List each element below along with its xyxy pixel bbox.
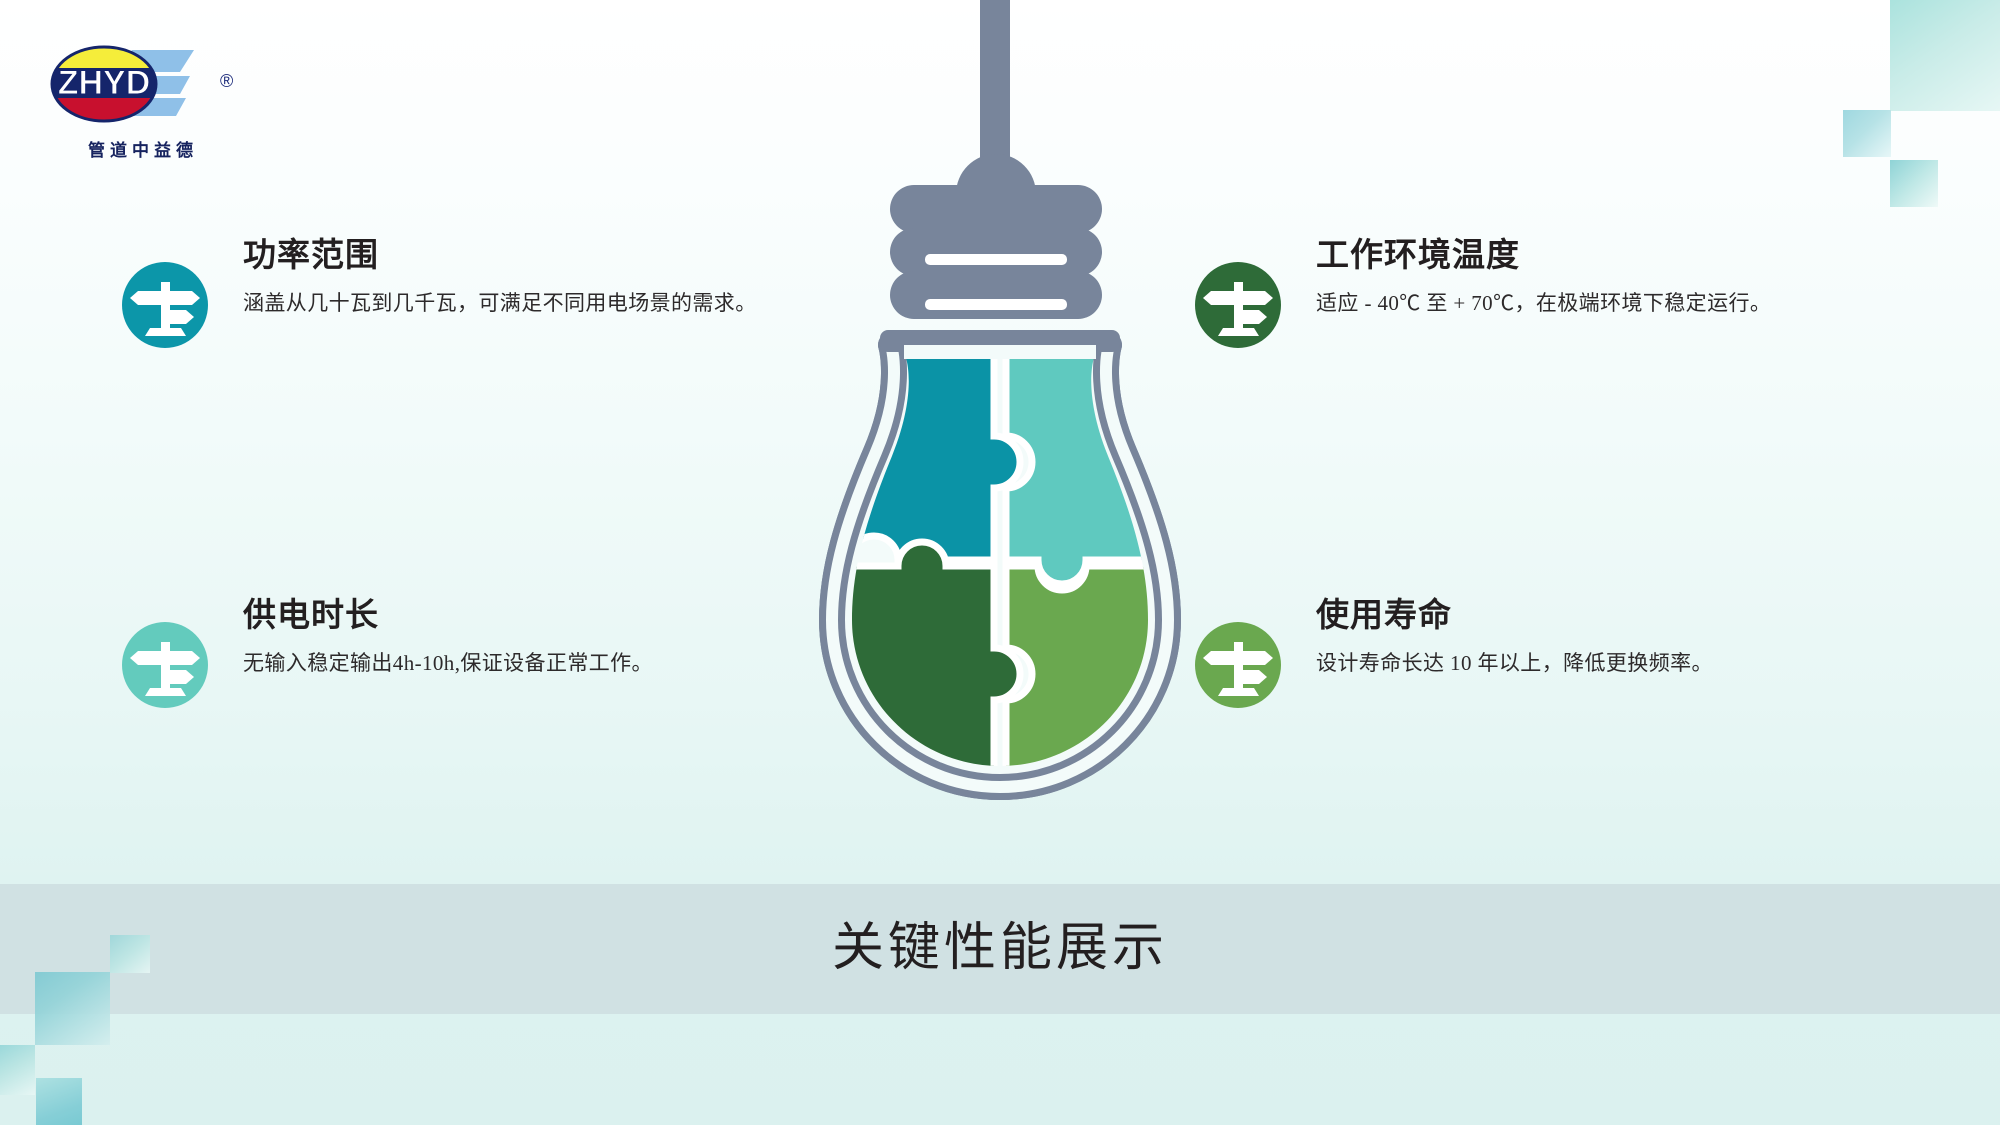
decorative-square-bottom-left-bottom: [36, 1078, 82, 1125]
bulb-screw-bar-2: [890, 228, 1102, 276]
feature-operating-temperature: 工作环境温度 适应 - 40℃ 至 + 70℃，在极端环境下稳定运行。: [1195, 236, 1771, 348]
feature-power-supply-duration: 供电时长 无输入稳定输出4h-10h,保证设备正常工作。: [122, 596, 653, 708]
feature-copy: 工作环境温度 适应 - 40℃ 至 + 70℃，在极端环境下稳定运行。: [1316, 236, 1771, 319]
feature-body: 设计寿命长达 10 年以上，降低更换频率。: [1316, 647, 1713, 680]
logo-mark-icon: ZHYD: [40, 32, 240, 132]
lightbulb-graphic-icon: [780, 0, 1220, 830]
feature-body: 适应 - 40℃ 至 + 70℃，在极端环境下稳定运行。: [1316, 287, 1771, 320]
bottom-banner: 关键性能展示: [0, 884, 2000, 1014]
signpost-icon: [122, 622, 208, 708]
signpost-icon: [122, 262, 208, 348]
decorative-square-top-right-large: [1890, 0, 2000, 111]
feature-title: 工作环境温度: [1316, 236, 1771, 275]
feature-copy: 使用寿命 设计寿命长达 10 年以上，降低更换频率。: [1316, 596, 1713, 679]
bulb-screw-bar-1: [890, 185, 1102, 233]
feature-power-range: 功率范围 涵盖从几十瓦到几千瓦，可满足不同用电场景的需求。: [122, 236, 757, 348]
company-logo: ZHYD ® 管道中益德: [40, 32, 240, 164]
feature-title: 使用寿命: [1316, 596, 1713, 635]
badge-power-supply-duration: [122, 622, 208, 708]
decorative-square-bottom-left-edge: [0, 1045, 35, 1095]
badge-service-life: [1195, 622, 1281, 708]
lightbulb-illustration: [780, 0, 1220, 830]
feature-copy: 功率范围 涵盖从几十瓦到几千瓦，可满足不同用电场景的需求。: [243, 236, 757, 319]
bulb-screw-bar-3: [890, 271, 1102, 319]
decorative-square-top-right-small: [1890, 160, 1938, 207]
signpost-icon: [1195, 262, 1281, 348]
banner-title: 关键性能展示: [832, 923, 1168, 975]
feature-body: 无输入稳定输出4h-10h,保证设备正常工作。: [243, 647, 653, 680]
feature-body: 涵盖从几十瓦到几千瓦，可满足不同用电场景的需求。: [243, 287, 757, 320]
feature-title: 供电时长: [243, 596, 653, 635]
feature-service-life: 使用寿命 设计寿命长达 10 年以上，降低更换频率。: [1195, 596, 1713, 708]
badge-power-range: [122, 262, 208, 348]
slide-canvas: ZHYD ® 管道中益德: [0, 0, 2000, 1125]
svg-text:ZHYD: ZHYD: [58, 64, 151, 102]
feature-title: 功率范围: [243, 236, 757, 275]
badge-operating-temperature: [1195, 262, 1281, 348]
decorative-square-top-right-medium: [1843, 110, 1891, 157]
logo-chinese-name: 管道中益德: [88, 136, 198, 161]
registered-trademark-symbol: ®: [220, 72, 233, 90]
feature-copy: 供电时长 无输入稳定输出4h-10h,保证设备正常工作。: [243, 596, 653, 679]
signpost-icon: [1195, 622, 1281, 708]
